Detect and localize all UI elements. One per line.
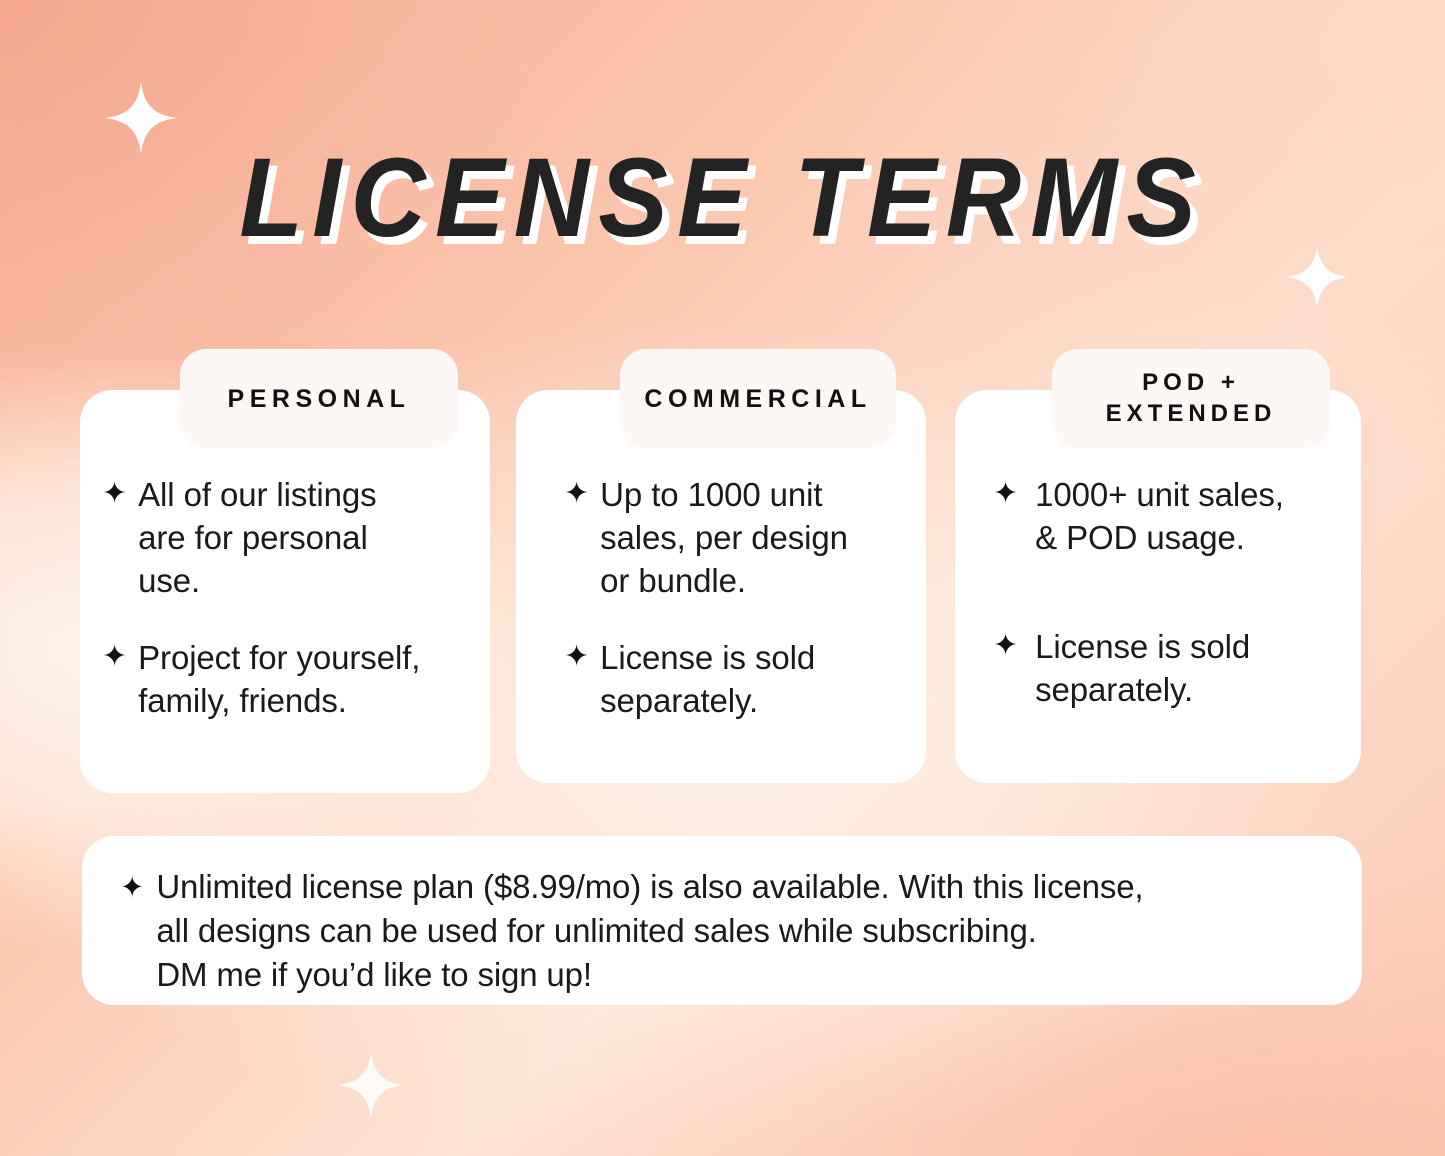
license-card-commercial-header: COMMERCIAL — [620, 349, 896, 448]
card-header-label: POD + EXTENDED — [1106, 368, 1277, 429]
list-item: ✦ Up to 1000 unit sales, per design or b… — [564, 473, 910, 602]
card-header-label: COMMERCIAL — [644, 383, 871, 415]
four-point-star-bullet-icon: ✦ — [564, 636, 589, 678]
card-header-label: PERSONAL — [228, 383, 411, 415]
four-point-star-bullet-icon: ✦ — [102, 473, 127, 515]
list-item: ✦ License is sold separately. — [993, 625, 1345, 711]
license-card-personal: ✦ All of our listings are for personal u… — [80, 390, 490, 793]
unlimited-plan-text: Unlimited license plan ($8.99/mo) is als… — [156, 865, 1143, 997]
list-item-text: 1000+ unit sales, & POD usage. — [1035, 473, 1284, 559]
list-item-text: License is sold separately. — [600, 636, 815, 722]
list-item: ✦ Project for yourself, family, friends. — [102, 636, 470, 722]
four-point-star-bullet-icon: ✦ — [120, 865, 144, 909]
license-terms-graphic: LICENSE TERMS ✦ All of our listings are … — [0, 0, 1445, 1156]
page-title: LICENSE TERMS — [240, 142, 1206, 254]
four-point-star-bullet-icon: ✦ — [993, 473, 1018, 515]
four-point-star-bullet-icon: ✦ — [564, 473, 589, 515]
list-item-text: Up to 1000 unit sales, per design or bun… — [600, 473, 848, 602]
list-item: ✦ All of our listings are for personal u… — [102, 473, 470, 602]
unlimited-plan-banner-inner: ✦ Unlimited license plan ($8.99/mo) is a… — [82, 836, 1362, 997]
personal-bullet-list: ✦ All of our listings are for personal u… — [80, 473, 490, 722]
license-card-pod-extended: ✦ 1000+ unit sales, & POD usage. ✦ Licen… — [955, 390, 1361, 783]
pod-extended-bullet-list: ✦ 1000+ unit sales, & POD usage. ✦ Licen… — [955, 473, 1361, 711]
list-item-text: License is sold separately. — [1035, 625, 1250, 711]
sparkle-bottom-left-icon — [338, 1052, 404, 1118]
commercial-bullet-list: ✦ Up to 1000 unit sales, per design or b… — [516, 473, 926, 722]
unlimited-plan-banner: ✦ Unlimited license plan ($8.99/mo) is a… — [82, 836, 1362, 1005]
license-card-commercial: ✦ Up to 1000 unit sales, per design or b… — [516, 390, 926, 783]
four-point-star-bullet-icon: ✦ — [102, 636, 127, 678]
license-card-pod-extended-header: POD + EXTENDED — [1052, 349, 1330, 448]
list-item: ✦ 1000+ unit sales, & POD usage. — [993, 473, 1345, 559]
four-point-star-bullet-icon: ✦ — [993, 625, 1018, 667]
list-item-text: All of our listings are for personal use… — [138, 473, 376, 602]
license-card-personal-header: PERSONAL — [180, 349, 458, 448]
page-title-container: LICENSE TERMS — [0, 142, 1445, 268]
list-item: ✦ License is sold separately. — [564, 636, 910, 722]
list-item-text: Project for yourself, family, friends. — [138, 636, 420, 722]
